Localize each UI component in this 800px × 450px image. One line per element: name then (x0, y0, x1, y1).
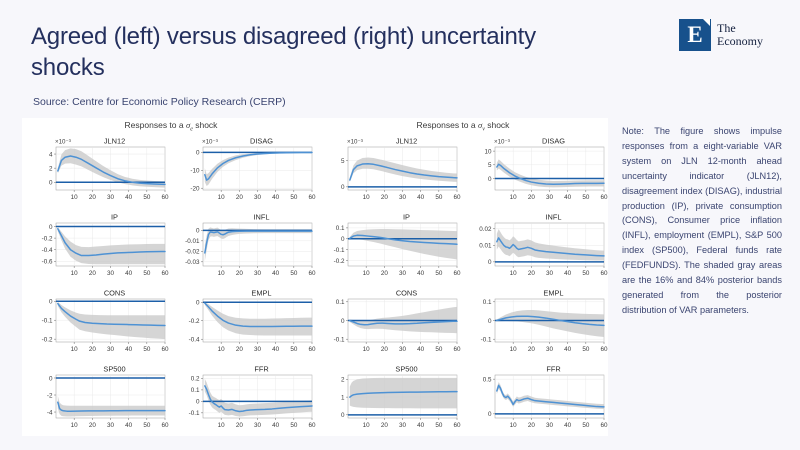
chart-panel-jln12-right: 50102030405060×10⁻³JLN12 (318, 134, 463, 204)
x-tick-label: 20 (528, 194, 536, 201)
chart-panel-title: SP500 (103, 365, 125, 374)
chart-panel-disag-right: 1050102030405060×10⁻³DISAG (465, 134, 610, 204)
y-tick-label: -0.6 (42, 259, 53, 266)
y-tick-label: -0.1 (42, 318, 53, 325)
y-tick-label: -4 (47, 409, 53, 416)
chart-svg: 0.10-0.1102030405060CONS (318, 286, 463, 356)
y-tick-label: -0.2 (42, 235, 53, 242)
x-tick-label: 10 (71, 346, 79, 353)
y-tick-label: 4 (49, 151, 53, 158)
x-tick-label: 50 (143, 194, 151, 201)
chart-panel-title: FFR (254, 365, 268, 374)
x-tick-label: 10 (510, 194, 518, 201)
y-tick-label: 0.2 (191, 376, 200, 383)
x-tick-label: 40 (417, 346, 425, 353)
x-tick-label: 20 (381, 270, 389, 277)
x-tick-label: 40 (564, 194, 572, 201)
chart-panel-title: CONS (396, 289, 417, 298)
chart-panel-title: DISAG (250, 137, 273, 146)
x-tick-label: 30 (399, 422, 407, 429)
y-tick-label: -0.1 (334, 336, 345, 343)
x-tick-label: 50 (143, 346, 151, 353)
chart-panel-empl-left: 0-0.2-0.4102030405060EMPL (173, 286, 318, 356)
chart-svg: 0.20.10-0.1102030405060FFR (173, 362, 318, 432)
chart-svg: 0.020.010102030405060INFL (465, 210, 610, 280)
x-tick-label: 10 (71, 422, 79, 429)
x-tick-label: 50 (290, 194, 298, 201)
x-tick-label: 10 (363, 422, 371, 429)
chart-panel-title: EMPL (543, 289, 563, 298)
x-tick-label: 50 (435, 270, 443, 277)
panel-group-disagreed-title: Responses to a σv shock (318, 120, 608, 133)
x-tick-label: 50 (290, 270, 298, 277)
x-tick-label: 30 (546, 194, 554, 201)
x-tick-label: 40 (564, 346, 572, 353)
y-tick-label: 0 (49, 299, 53, 306)
x-tick-label: 20 (528, 270, 536, 277)
x-tick-label: 10 (363, 346, 371, 353)
y-tick-label: 0 (488, 259, 492, 266)
x-tick-label: 40 (417, 194, 425, 201)
x-tick-label: 40 (272, 270, 280, 277)
page-title: Agreed (left) versus disagreed (right) u… (31, 22, 591, 83)
chart-panel-sp500-left: 0-2-4102030405060SP500 (26, 362, 171, 432)
y-tick-label: 0 (341, 318, 345, 325)
x-tick-label: 20 (89, 270, 97, 277)
x-tick-label: 40 (417, 422, 425, 429)
x-tick-label: 40 (272, 194, 280, 201)
y-tick-label: 0 (49, 180, 53, 187)
y-tick-label: 0 (196, 300, 200, 307)
x-tick-label: 30 (254, 270, 262, 277)
slide-canvas: Agreed (left) versus disagreed (right) u… (0, 0, 800, 450)
y-axis-exponent-label: ×10⁻³ (55, 139, 71, 146)
chart-svg: 0-0.1-0.2102030405060CONS (26, 286, 171, 356)
chart-panel-disag-left: 0-10-20102030405060×10⁻³DISAG (173, 134, 318, 204)
chart-svg: 50102030405060×10⁻³JLN12 (318, 134, 463, 204)
x-tick-label: 30 (107, 422, 115, 429)
x-tick-label: 20 (89, 346, 97, 353)
x-tick-label: 30 (399, 346, 407, 353)
x-tick-label: 50 (143, 270, 151, 277)
y-tick-label: 0 (196, 150, 200, 157)
x-tick-label: 20 (236, 422, 244, 429)
x-tick-label: 10 (363, 270, 371, 277)
x-tick-label: 60 (161, 194, 169, 201)
x-tick-label: 20 (236, 194, 244, 201)
x-tick-label: 50 (290, 422, 298, 429)
y-tick-label: 0 (49, 224, 53, 231)
x-tick-label: 60 (600, 346, 608, 353)
panel-group-agreed: Responses to a σe shock 024102030405060×… (26, 118, 316, 436)
x-tick-label: 60 (308, 270, 316, 277)
y-tick-label: -0.2 (42, 336, 53, 343)
y-tick-label: -0.1 (481, 336, 492, 343)
chart-svg: 024102030405060×10⁻³JLN12 (26, 134, 171, 204)
x-tick-label: 50 (582, 422, 590, 429)
chart-svg: 0-0.2-0.4-0.6102030405060IP (26, 210, 171, 280)
x-tick-label: 40 (125, 346, 133, 353)
x-tick-label: 60 (308, 194, 316, 201)
chart-panel-title: DISAG (542, 137, 565, 146)
logo-wordmark: The Economy (717, 22, 763, 48)
y-tick-label: -0.01 (185, 238, 200, 245)
y-tick-label: 0 (488, 318, 492, 325)
chart-panel-cons-left: 0-0.1-0.2102030405060CONS (26, 286, 171, 356)
x-tick-label: 30 (107, 346, 115, 353)
y-tick-label: 0 (488, 176, 492, 183)
chart-svg: 210102030405060SP500 (318, 362, 463, 432)
x-tick-label: 20 (381, 346, 389, 353)
y-tick-label: 0.1 (191, 387, 200, 394)
x-tick-label: 30 (254, 194, 262, 201)
x-tick-label: 30 (399, 194, 407, 201)
y-tick-label: 0 (196, 228, 200, 235)
x-tick-label: 30 (254, 422, 262, 429)
y-tick-label: -0.1 (189, 410, 200, 417)
panel-group-disagreed: Responses to a σv shock 50102030405060×1… (318, 118, 608, 436)
x-tick-label: 10 (71, 270, 79, 277)
y-tick-label: 2 (49, 165, 53, 172)
x-tick-label: 60 (308, 422, 316, 429)
x-tick-label: 20 (236, 346, 244, 353)
chart-svg: 0-10-20102030405060×10⁻³DISAG (173, 134, 318, 204)
y-axis-exponent-label: ×10⁻³ (202, 139, 218, 146)
x-tick-label: 60 (453, 346, 461, 353)
chart-panel-title: INFL (545, 213, 561, 222)
x-tick-label: 20 (381, 194, 389, 201)
x-tick-label: 30 (107, 194, 115, 201)
x-tick-label: 40 (272, 346, 280, 353)
x-tick-label: 30 (546, 270, 554, 277)
x-tick-label: 30 (546, 422, 554, 429)
y-tick-label: -0.2 (189, 318, 200, 325)
x-tick-label: 10 (510, 422, 518, 429)
x-tick-label: 60 (600, 194, 608, 201)
x-tick-label: 30 (399, 270, 407, 277)
chart-svg: 0.10-0.1-0.2102030405060IP (318, 210, 463, 280)
y-tick-label: 0.01 (479, 243, 492, 250)
chart-panel-ffr-left: 0.20.10-0.1102030405060FFR (173, 362, 318, 432)
logo-corner-fold-icon (703, 19, 710, 26)
figure-note: Note: The figure shows impulse responses… (622, 124, 782, 318)
y-tick-label: 0.1 (336, 299, 345, 306)
chart-panel-ip-left: 0-0.2-0.4-0.6102030405060IP (26, 210, 171, 280)
x-tick-label: 20 (89, 422, 97, 429)
chart-panel-ffr-right: 0.50102030405060FFR (465, 362, 610, 432)
chart-panel-title: JLN12 (396, 137, 417, 146)
y-tick-label: 2 (341, 377, 345, 384)
chart-svg: 0-0.2-0.4102030405060EMPL (173, 286, 318, 356)
x-tick-label: 50 (435, 194, 443, 201)
panel-group-agreed-title: Responses to a σe shock (26, 120, 316, 133)
chart-panel-infl-right: 0.020.010102030405060INFL (465, 210, 610, 280)
y-tick-label: 0.02 (479, 226, 492, 233)
chart-panel-sp500-right: 210102030405060SP500 (318, 362, 463, 432)
logo-wordmark-line2: Economy (717, 35, 763, 48)
impulse-response-figure: Responses to a σe shock 024102030405060×… (22, 118, 608, 436)
y-tick-label: 10 (484, 148, 492, 155)
x-tick-label: 60 (600, 422, 608, 429)
x-tick-label: 40 (272, 422, 280, 429)
y-tick-label: 0 (488, 411, 492, 418)
y-tick-label: 0 (341, 236, 345, 243)
x-tick-label: 20 (528, 422, 536, 429)
x-tick-label: 10 (71, 194, 79, 201)
chart-svg: 0.50102030405060FFR (465, 362, 610, 432)
chart-panel-ip-right: 0.10-0.1-0.2102030405060IP (318, 210, 463, 280)
y-tick-label: 0 (49, 375, 53, 382)
source-caption: Source: Centre for Economic Policy Resea… (33, 96, 286, 108)
x-tick-label: 50 (582, 194, 590, 201)
chart-panel-title: EMPL (251, 289, 271, 298)
x-tick-label: 30 (107, 270, 115, 277)
chart-panel-title: CONS (104, 289, 125, 298)
y-tick-label: -10 (190, 168, 200, 175)
x-tick-label: 10 (218, 346, 226, 353)
chart-panel-title: SP500 (395, 365, 417, 374)
x-tick-label: 20 (89, 194, 97, 201)
chart-panel-title: IP (111, 213, 118, 222)
x-tick-label: 40 (125, 270, 133, 277)
y-tick-label: 1 (341, 394, 345, 401)
chart-panel-title: FFR (546, 365, 560, 374)
x-tick-label: 40 (125, 194, 133, 201)
x-tick-label: 40 (564, 270, 572, 277)
x-tick-label: 60 (161, 346, 169, 353)
chart-svg: 1050102030405060×10⁻³DISAG (465, 134, 610, 204)
x-tick-label: 30 (254, 346, 262, 353)
x-tick-label: 20 (528, 346, 536, 353)
y-tick-label: 5 (341, 158, 345, 165)
the-economy-logo: E The Economy (679, 19, 763, 51)
x-tick-label: 60 (308, 346, 316, 353)
x-tick-label: 50 (290, 346, 298, 353)
x-tick-label: 50 (582, 270, 590, 277)
x-tick-label: 10 (510, 346, 518, 353)
x-tick-label: 10 (218, 270, 226, 277)
y-tick-label: -0.4 (42, 247, 53, 254)
x-tick-label: 20 (381, 422, 389, 429)
logo-letter: E (687, 23, 702, 46)
y-axis-exponent-label: ×10⁻³ (347, 139, 363, 146)
y-tick-label: 0 (341, 412, 345, 419)
x-tick-label: 40 (417, 270, 425, 277)
y-tick-label: 0.1 (336, 225, 345, 232)
chart-panel-title: INFL (253, 213, 269, 222)
x-tick-label: 60 (453, 422, 461, 429)
y-tick-label: -0.02 (185, 249, 200, 256)
x-tick-label: 60 (453, 194, 461, 201)
chart-panel-cons-right: 0.10-0.1102030405060CONS (318, 286, 463, 356)
x-tick-label: 60 (600, 270, 608, 277)
x-tick-label: 30 (546, 346, 554, 353)
y-tick-label: -0.1 (334, 247, 345, 254)
chart-panel-empl-right: 0.10-0.1102030405060EMPL (465, 286, 610, 356)
chart-svg: 0-2-4102030405060SP500 (26, 362, 171, 432)
logo-mark-icon: E (679, 19, 711, 51)
x-tick-label: 40 (564, 422, 572, 429)
chart-panel-title: IP (403, 213, 410, 222)
x-tick-label: 10 (510, 270, 518, 277)
x-tick-label: 60 (161, 422, 169, 429)
y-tick-label: 0.5 (483, 376, 492, 383)
y-tick-label: 0 (341, 184, 345, 191)
y-tick-label: 0.1 (483, 299, 492, 306)
x-tick-label: 10 (363, 194, 371, 201)
x-tick-label: 40 (125, 422, 133, 429)
y-tick-label: 5 (488, 162, 492, 169)
y-tick-label: 0 (196, 399, 200, 406)
x-tick-label: 10 (218, 194, 226, 201)
x-tick-label: 50 (435, 422, 443, 429)
x-tick-label: 10 (218, 422, 226, 429)
chart-svg: 0-0.01-0.02-0.03102030405060INFL (173, 210, 318, 280)
x-tick-label: 20 (236, 270, 244, 277)
chart-panel-jln12-left: 024102030405060×10⁻³JLN12 (26, 134, 171, 204)
y-tick-label: -0.4 (189, 337, 200, 344)
chart-panel-title: JLN12 (104, 137, 125, 146)
chart-svg: 0.10-0.1102030405060EMPL (465, 286, 610, 356)
y-tick-label: -20 (190, 186, 200, 193)
x-tick-label: 60 (161, 270, 169, 277)
y-tick-label: -0.03 (185, 259, 200, 266)
y-tick-label: -0.2 (334, 258, 345, 265)
x-tick-label: 50 (435, 346, 443, 353)
x-tick-label: 60 (453, 270, 461, 277)
y-tick-label: -2 (47, 392, 53, 399)
chart-panel-infl-left: 0-0.01-0.02-0.03102030405060INFL (173, 210, 318, 280)
x-tick-label: 50 (143, 422, 151, 429)
x-tick-label: 50 (582, 346, 590, 353)
y-axis-exponent-label: ×10⁻³ (494, 139, 510, 146)
